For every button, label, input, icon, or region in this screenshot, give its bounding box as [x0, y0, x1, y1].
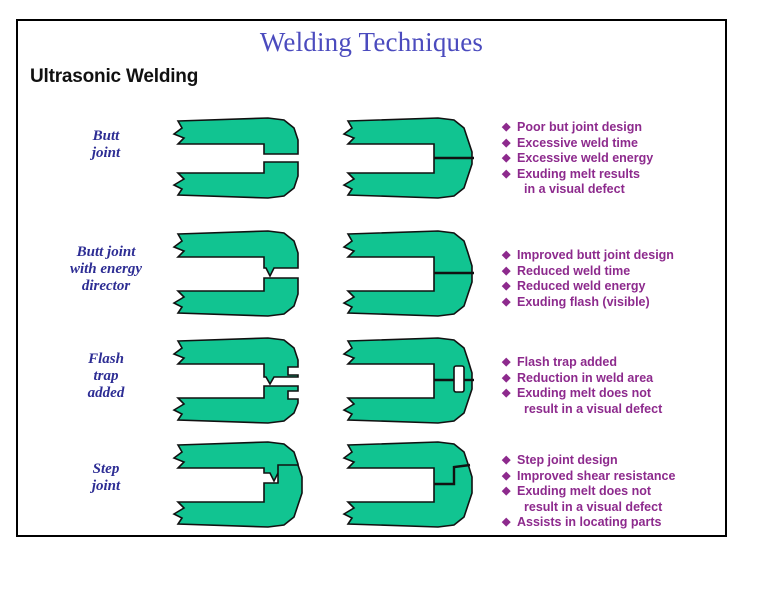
bullet-text: Exuding melt does not: [517, 386, 651, 400]
bullet-text: Flash trap added: [517, 355, 617, 369]
diagram-step-joint-unwelded: [160, 437, 325, 541]
bullet-text: Step joint design: [517, 453, 618, 467]
lower-part-stepped-shape: [174, 465, 302, 527]
row-label-line: with energy: [70, 261, 142, 277]
row-label-butt-joint: Butt joint: [46, 128, 166, 162]
bullet-item: ◆Exuding melt does not: [502, 386, 724, 402]
diamond-bullet-icon: ◆: [502, 279, 510, 295]
bullet-text: Improved shear resistance: [517, 469, 675, 483]
diamond-bullet-icon: ◆: [502, 355, 510, 371]
lower-part-shape: [174, 162, 298, 198]
row-label-flash-trap: Flash trap added: [46, 351, 166, 402]
bullet-item: ◆Reduced weld time: [502, 264, 724, 280]
bullet-item: ◆Excessive weld energy: [502, 151, 724, 167]
row-label-line: joint: [92, 145, 120, 161]
bullet-item: ◆Flash trap added: [502, 355, 724, 371]
upper-part-with-director-shape: [174, 231, 298, 276]
diamond-bullet-icon: ◆: [502, 469, 510, 485]
slide-frame: Welding Techniques Ultrasonic Welding Bu…: [16, 19, 727, 537]
diamond-bullet-icon: ◆: [502, 484, 510, 500]
bullet-list-butt-joint: ◆Poor but joint design ◆Excessive weld t…: [502, 120, 724, 198]
bullet-item: ◆Excessive weld time: [502, 136, 724, 152]
bullet-text: Excessive weld energy: [517, 151, 653, 165]
diagram-flash-trap-unwelded: [160, 333, 325, 437]
lower-part-shape: [174, 278, 298, 316]
row-label-line: Butt joint: [77, 244, 136, 260]
diamond-bullet-icon: ◆: [502, 295, 510, 311]
bullet-text: Assists in locating parts: [517, 515, 661, 529]
bullet-text: in a visual defect: [524, 182, 625, 196]
bullet-item: ◆Reduction in weld area: [502, 371, 724, 387]
bullet-text: Reduced weld time: [517, 264, 630, 278]
diamond-bullet-icon: ◆: [502, 386, 510, 402]
bullet-text: Excessive weld time: [517, 136, 638, 150]
row-label-line: Butt: [93, 128, 120, 144]
bullet-text: Reduced weld energy: [517, 279, 646, 293]
bullet-item: ◆Exuding flash (visible): [502, 295, 724, 311]
row-label-line: joint: [92, 478, 120, 494]
bullet-text: Exuding melt does not: [517, 484, 651, 498]
diamond-bullet-icon: ◆: [502, 371, 510, 387]
bullet-list-energy-director: ◆Improved butt joint design ◆Reduced wel…: [502, 248, 724, 310]
flash-trap-cavity: [454, 366, 464, 392]
row-label-line: Step: [93, 461, 120, 477]
row-label-step-joint: Step joint: [46, 461, 166, 495]
diamond-bullet-icon: ◆: [502, 515, 510, 531]
bullet-item-continuation: result in a visual defect: [502, 500, 724, 516]
diagram-butt-joint-welded: [330, 106, 495, 210]
bullet-list-flash-trap: ◆Flash trap added ◆Reduction in weld are…: [502, 355, 724, 417]
diamond-bullet-icon: ◆: [502, 248, 510, 264]
diagram-row-butt-joint: Butt joint ◆Poor but joint design ◆Exces…: [18, 106, 725, 216]
row-label-line: added: [88, 385, 125, 401]
bullet-text: Improved butt joint design: [517, 248, 674, 262]
row-label-energy-director: Butt joint with energy director: [46, 244, 166, 295]
bullet-text: Exuding melt results: [517, 167, 640, 181]
bullet-item: ◆Improved shear resistance: [502, 469, 724, 485]
bullet-item: ◆Poor but joint design: [502, 120, 724, 136]
row-label-line: Flash: [88, 351, 124, 367]
diagram-row-energy-director: Butt joint with energy director ◆Improve…: [18, 226, 725, 336]
row-label-line: director: [82, 278, 130, 294]
upper-part-shape: [174, 118, 298, 154]
diagram-row-step-joint: Step joint ◆Step joint design ◆Improved …: [18, 437, 725, 547]
bullet-text: result in a visual defect: [524, 402, 662, 416]
bullet-item: ◆Reduced weld energy: [502, 279, 724, 295]
bullet-text: Poor but joint design: [517, 120, 642, 134]
bullet-item: ◆Step joint design: [502, 453, 724, 469]
bullet-item: ◆Exuding melt does not: [502, 484, 724, 500]
row-label-line: trap: [93, 368, 118, 384]
bullet-item: ◆Exuding melt results: [502, 167, 724, 183]
diamond-bullet-icon: ◆: [502, 120, 510, 136]
diagram-energy-director-welded: [330, 226, 495, 330]
bullet-text: Exuding flash (visible): [517, 295, 650, 309]
diamond-bullet-icon: ◆: [502, 453, 510, 469]
lower-part-with-trap-shape: [174, 386, 298, 423]
bullet-item-continuation: result in a visual defect: [502, 402, 724, 418]
diagram-step-joint-welded: [330, 437, 495, 541]
diamond-bullet-icon: ◆: [502, 167, 510, 183]
bullet-list-step-joint: ◆Step joint design ◆Improved shear resis…: [502, 453, 724, 531]
upper-part-with-trap-shape: [174, 338, 298, 384]
bullet-item: ◆Assists in locating parts: [502, 515, 724, 531]
bullet-item: ◆Improved butt joint design: [502, 248, 724, 264]
diamond-bullet-icon: ◆: [502, 136, 510, 152]
diagram-butt-joint-unwelded: [160, 106, 325, 210]
diagram-row-flash-trap: Flash trap added ◆Flash trap added ◆Redu…: [18, 333, 725, 443]
bullet-text: result in a visual defect: [524, 500, 662, 514]
diamond-bullet-icon: ◆: [502, 264, 510, 280]
section-heading: Ultrasonic Welding: [30, 66, 198, 88]
page-title: Welding Techniques: [18, 27, 725, 58]
diamond-bullet-icon: ◆: [502, 151, 510, 167]
bullet-text: Reduction in weld area: [517, 371, 653, 385]
bullet-item-continuation: in a visual defect: [502, 182, 724, 198]
diagram-flash-trap-welded: [330, 333, 495, 437]
diagram-energy-director-unwelded: [160, 226, 325, 330]
